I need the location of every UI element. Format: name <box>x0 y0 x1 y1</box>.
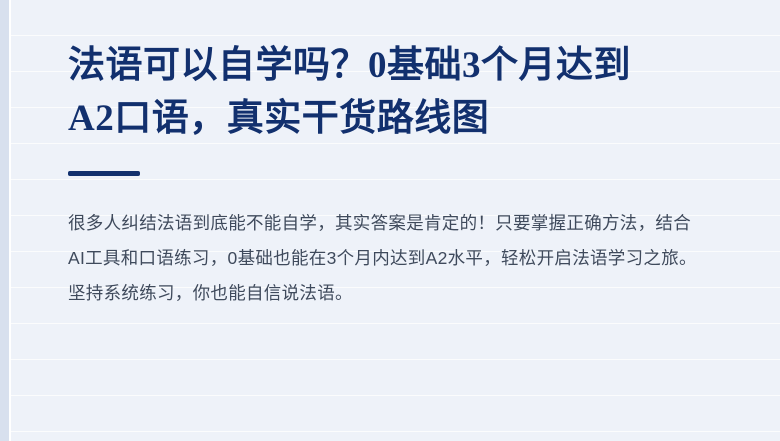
poster-card: 法语可以自学吗？0基础3个月达到 A2口语，真实干货路线图 很多人纠结法语到底能… <box>0 0 780 441</box>
poster-content: 法语可以自学吗？0基础3个月达到 A2口语，真实干货路线图 很多人纠结法语到底能… <box>0 0 780 441</box>
poster-body-text: 很多人纠结法语到底能不能自学，其实答案是肯定的！只要掌握正确方法，结合AI工具和… <box>68 206 708 311</box>
page-title: 法语可以自学吗？0基础3个月达到 A2口语，真实干货路线图 <box>68 40 718 145</box>
title-divider <box>68 171 140 176</box>
